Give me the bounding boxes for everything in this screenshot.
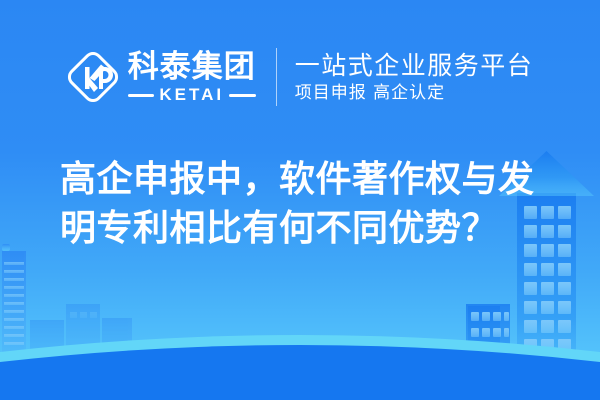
building-left-blocks — [30, 304, 132, 400]
brand-name-en-row: KETAI — [128, 86, 256, 104]
brand-logo[interactable]: 科泰集团 KETAI — [67, 48, 256, 106]
brand-wordmark: 科泰集团 KETAI — [128, 50, 256, 104]
brand-tagline: 一站式企业服务平台 项目申报 高企认定 — [295, 50, 534, 105]
building-right-short — [466, 304, 510, 400]
wordmark-rule-right — [229, 94, 256, 97]
tagline-main: 一站式企业服务平台 — [295, 50, 534, 81]
promo-banner: 科泰集团 KETAI 一站式企业服务平台 项目申报 高企认定 高企申报中，软件著… — [0, 0, 600, 400]
banner-header: 科泰集团 KETAI 一站式企业服务平台 项目申报 高企认定 — [0, 38, 600, 116]
brand-name-en: KETAI — [159, 86, 224, 104]
header-divider — [276, 48, 277, 106]
wordmark-rule-left — [128, 94, 155, 97]
page-title: 高企申报中，软件著作权与发明专利相比有何不同优势？ — [60, 155, 556, 253]
tagline-sub: 项目申报 高企认定 — [295, 82, 534, 105]
ketai-kp-diamond-icon — [67, 48, 119, 106]
title-container: 高企申报中，软件著作权与发明专利相比有何不同优势？ — [60, 155, 556, 253]
brand-name-cn: 科泰集团 — [128, 50, 256, 84]
building-left-tower — [2, 244, 26, 400]
